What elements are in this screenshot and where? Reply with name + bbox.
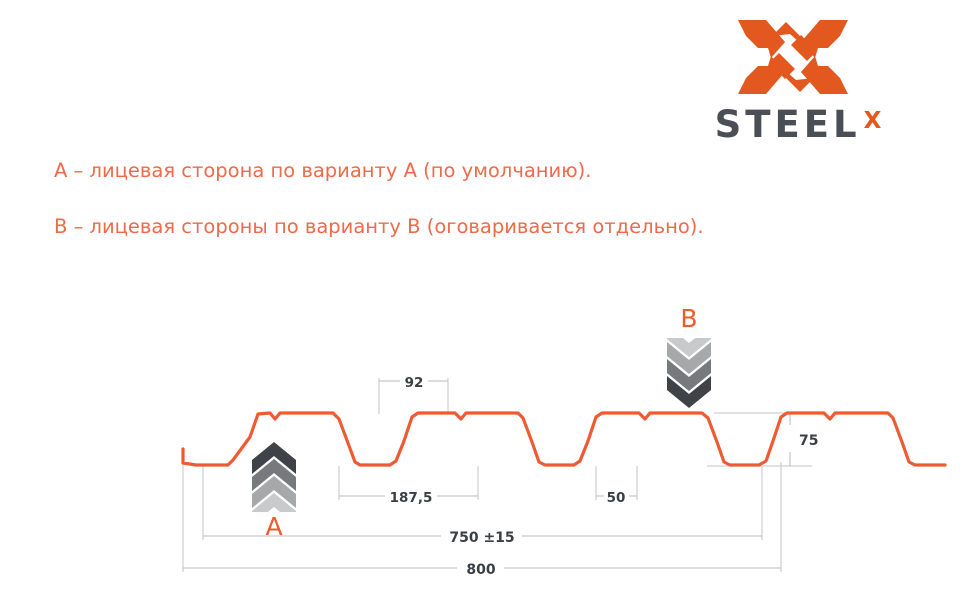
profile-technical-drawing: 92 187,5 50 75 750 ±15 800 (0, 0, 970, 597)
marker-variant-a: A (246, 440, 302, 540)
dimension-label-total-width: 800 (466, 562, 495, 578)
dimension-label-pitch: 187,5 (390, 490, 433, 506)
marker-a-letter: A (246, 514, 302, 539)
dimension-label-valley-width: 50 (607, 490, 626, 506)
chevron-up-stack-icon (250, 442, 298, 512)
marker-variant-b: B (661, 306, 717, 406)
dimension-labels: 92 187,5 50 75 750 ±15 800 (390, 375, 819, 578)
chevron-down-stack-icon (665, 338, 713, 408)
dimension-label-useful-width: 750 ±15 (449, 530, 514, 546)
dimension-label-crest-width: 92 (405, 375, 424, 391)
dimension-label-height: 75 (799, 433, 818, 449)
marker-b-letter: B (661, 306, 717, 331)
